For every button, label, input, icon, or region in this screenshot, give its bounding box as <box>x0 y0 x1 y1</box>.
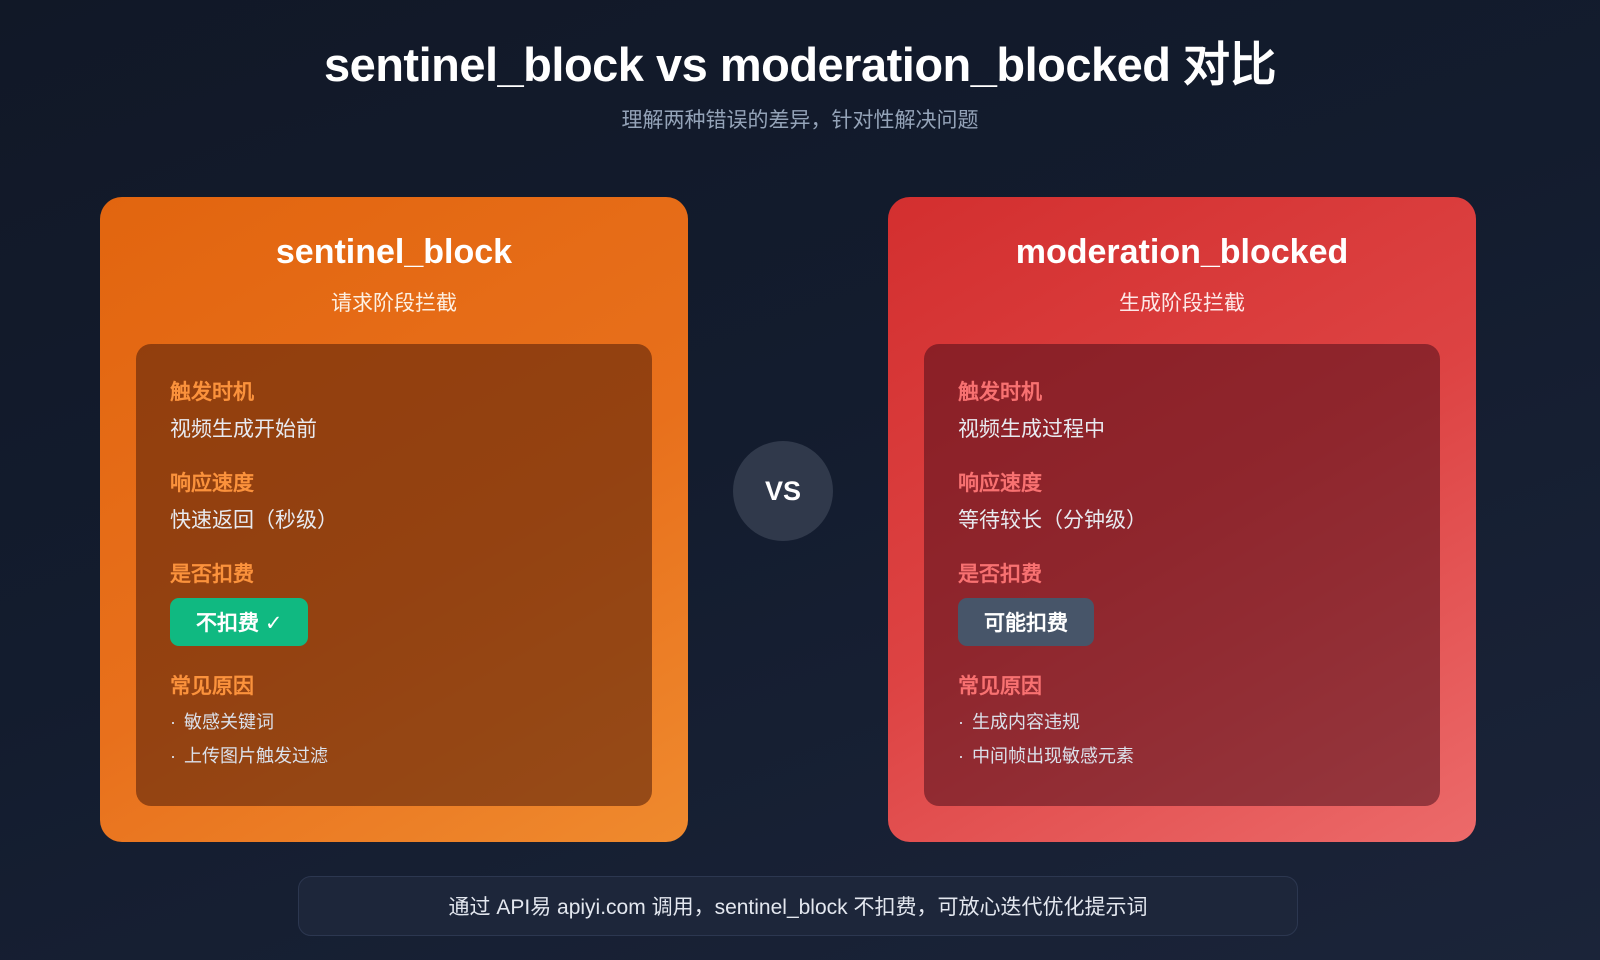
field-speed-right: 响应速度 等待较长（分钟级） <box>958 467 1406 534</box>
list-item: ·敏感关键词 <box>170 708 618 734</box>
field-label-reasons-right: 常见原因 <box>958 670 1406 700</box>
field-label-reasons-left: 常见原因 <box>170 670 618 700</box>
bullet-icon: · <box>170 746 176 766</box>
field-reasons-right: 常见原因 ·生成内容违规 ·中间帧出现敏感元素 <box>958 670 1406 768</box>
field-label-trigger-right: 触发时机 <box>958 376 1406 406</box>
card-title-left: sentinel_block <box>100 233 688 272</box>
list-item: ·上传图片触发过滤 <box>170 742 618 768</box>
card-sentinel-block: sentinel_block 请求阶段拦截 触发时机 视频生成开始前 响应速度 … <box>100 197 688 842</box>
field-value-speed-left: 快速返回（秒级） <box>170 504 618 534</box>
field-value-speed-right: 等待较长（分钟级） <box>958 504 1406 534</box>
bullet-icon: · <box>958 712 964 732</box>
field-trigger-right: 触发时机 视频生成过程中 <box>958 376 1406 443</box>
field-label-billing-left: 是否扣费 <box>170 558 618 588</box>
page-title: sentinel_block vs moderation_blocked 对比 <box>0 26 1600 95</box>
status-badge-no-charge: 不扣费 ✓ <box>170 598 308 646</box>
field-reasons-left: 常见原因 ·敏感关键词 ·上传图片触发过滤 <box>170 670 618 768</box>
list-item: ·生成内容违规 <box>958 708 1406 734</box>
field-value-trigger-left: 视频生成开始前 <box>170 413 618 443</box>
status-badge-maybe-charge: 可能扣费 <box>958 598 1094 646</box>
card-moderation-blocked: moderation_blocked 生成阶段拦截 触发时机 视频生成过程中 响… <box>888 197 1476 842</box>
list-item-label: 中间帧出现敏感元素 <box>972 746 1134 766</box>
bullet-icon: · <box>958 746 964 766</box>
card-subtitle-left: 请求阶段拦截 <box>100 287 688 317</box>
bullet-icon: · <box>170 712 176 732</box>
field-label-billing-right: 是否扣费 <box>958 558 1406 588</box>
card-title-right: moderation_blocked <box>888 233 1476 272</box>
field-billing-left: 是否扣费 不扣费 ✓ <box>170 558 618 646</box>
footer-note: 通过 API易 apiyi.com 调用，sentinel_block 不扣费，… <box>298 876 1298 936</box>
field-label-trigger-left: 触发时机 <box>170 376 618 406</box>
card-panel-right: 触发时机 视频生成过程中 响应速度 等待较长（分钟级） 是否扣费 可能扣费 常见… <box>924 344 1440 806</box>
vs-badge: VS <box>733 441 833 541</box>
field-speed-left: 响应速度 快速返回（秒级） <box>170 467 618 534</box>
field-billing-right: 是否扣费 可能扣费 <box>958 558 1406 646</box>
card-subtitle-right: 生成阶段拦截 <box>888 287 1476 317</box>
page-subtitle: 理解两种错误的差异，针对性解决问题 <box>0 104 1600 134</box>
list-item-label: 上传图片触发过滤 <box>184 746 328 766</box>
list-item-label: 生成内容违规 <box>972 712 1080 732</box>
card-panel-left: 触发时机 视频生成开始前 响应速度 快速返回（秒级） 是否扣费 不扣费 ✓ 常见… <box>136 344 652 806</box>
reason-list-right: ·生成内容违规 ·中间帧出现敏感元素 <box>958 708 1406 768</box>
list-item-label: 敏感关键词 <box>184 712 274 732</box>
list-item: ·中间帧出现敏感元素 <box>958 742 1406 768</box>
field-label-speed-left: 响应速度 <box>170 467 618 497</box>
footer-note-text: 通过 API易 apiyi.com 调用，sentinel_block 不扣费，… <box>449 891 1148 921</box>
field-label-speed-right: 响应速度 <box>958 467 1406 497</box>
field-trigger-left: 触发时机 视频生成开始前 <box>170 376 618 443</box>
field-value-trigger-right: 视频生成过程中 <box>958 413 1406 443</box>
reason-list-left: ·敏感关键词 ·上传图片触发过滤 <box>170 708 618 768</box>
infographic-root: sentinel_block vs moderation_blocked 对比 … <box>0 0 1600 960</box>
